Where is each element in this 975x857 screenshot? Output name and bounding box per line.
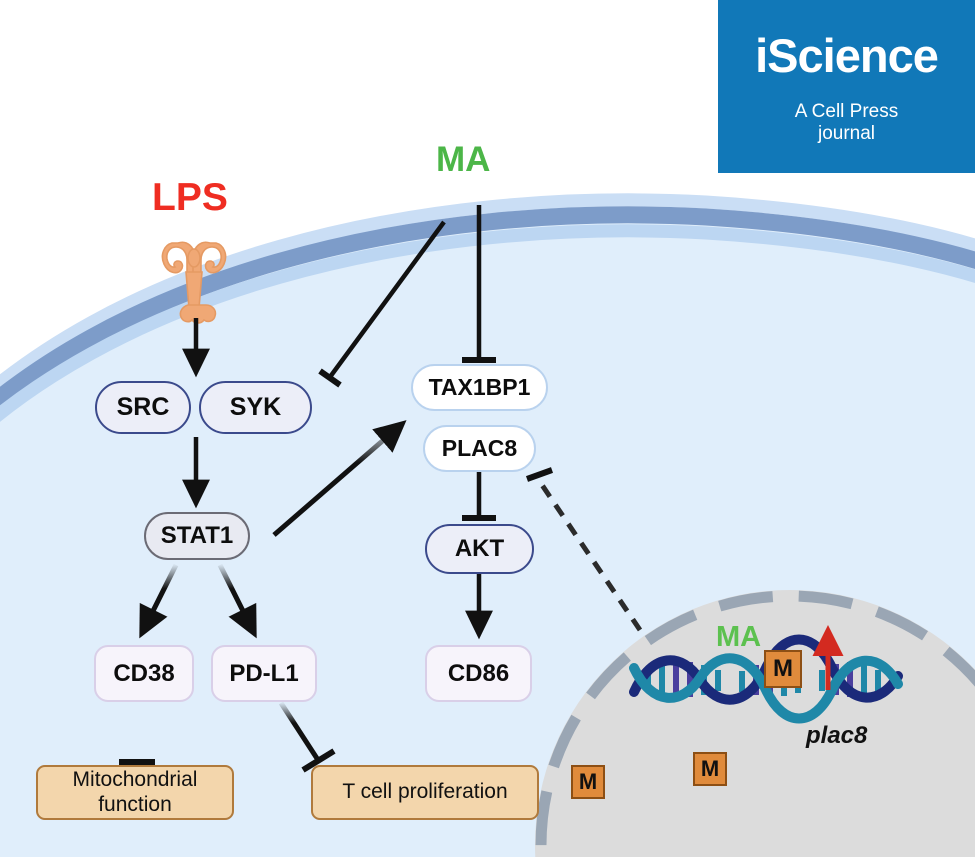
node-cd86-label: CD86 bbox=[448, 660, 509, 688]
methyl-mark-free-mid: M bbox=[693, 752, 727, 786]
journal-tagline-line1: A Cell Press bbox=[795, 101, 898, 123]
node-src-label: SRC bbox=[117, 393, 170, 422]
node-akt-label: AKT bbox=[455, 535, 504, 563]
outcome-mito-line1: Mitochondrial bbox=[73, 768, 198, 793]
node-tax1bp1-label: TAX1BP1 bbox=[429, 374, 531, 401]
node-pdl1-label: PD-L1 bbox=[229, 660, 298, 688]
outcome-t-cell-proliferation[interactable]: T cell proliferation bbox=[311, 765, 539, 820]
methyl-mark-on-dna-label: M bbox=[773, 655, 793, 683]
node-akt[interactable]: AKT bbox=[425, 524, 534, 574]
node-cd86[interactable]: CD86 bbox=[425, 645, 532, 702]
methyl-mark-free-left-label: M bbox=[579, 769, 597, 795]
methyl-mark-on-dna: M bbox=[764, 650, 802, 688]
label-lps: LPS bbox=[152, 176, 228, 220]
node-plac8-label: PLAC8 bbox=[442, 435, 517, 462]
outcome-tcell-line1: T cell proliferation bbox=[342, 780, 507, 805]
node-syk[interactable]: SYK bbox=[199, 381, 312, 434]
journal-wordmark: iScience bbox=[755, 32, 938, 79]
outcome-mito-line2: function bbox=[98, 793, 172, 818]
journal-tagline-line2: journal bbox=[818, 123, 875, 145]
node-tax1bp1[interactable]: TAX1BP1 bbox=[411, 364, 548, 411]
node-cd38[interactable]: CD38 bbox=[94, 645, 194, 702]
label-ma-nucleus: MA bbox=[716, 621, 761, 654]
methyl-mark-free-left: M bbox=[571, 765, 605, 799]
label-gene-plac8: plac8 bbox=[806, 722, 867, 750]
figure-canvas: SRC SYK STAT1 TAX1BP1 PLAC8 AKT CD38 PD-… bbox=[0, 0, 975, 857]
node-stat1[interactable]: STAT1 bbox=[144, 512, 250, 560]
journal-badge: iScience A Cell Press journal bbox=[718, 0, 975, 173]
node-plac8[interactable]: PLAC8 bbox=[423, 425, 536, 472]
node-cd38-label: CD38 bbox=[113, 660, 174, 688]
node-syk-label: SYK bbox=[230, 393, 281, 422]
outcome-mitochondrial-function[interactable]: Mitochondrial function bbox=[36, 765, 234, 820]
node-src[interactable]: SRC bbox=[95, 381, 191, 434]
methyl-mark-free-mid-label: M bbox=[701, 756, 719, 782]
node-stat1-label: STAT1 bbox=[161, 522, 233, 550]
label-ma-extracellular: MA bbox=[436, 140, 490, 180]
node-pdl1[interactable]: PD-L1 bbox=[211, 645, 317, 702]
